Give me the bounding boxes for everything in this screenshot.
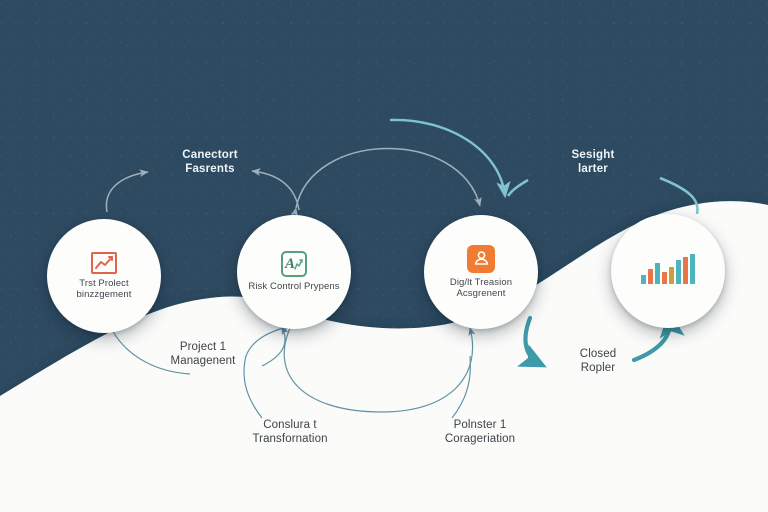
- connector-teal-into-node3: [390, 120, 505, 196]
- label-top-left: Canectort Fasrents: [145, 148, 275, 176]
- node-label: Trst Prolect binzzgement: [54, 278, 154, 301]
- bar-7: [683, 257, 688, 284]
- user-person-icon: [467, 245, 495, 273]
- infographic-canvas: Canectort Fasrents Sesight larter Projec…: [0, 0, 768, 512]
- node-label: Risk Control Prypens: [248, 281, 339, 293]
- label-bottom-right: Polnster 1 Corageriation: [400, 418, 560, 446]
- node-trust-project-management[interactable]: Trst Prolect binzzgement: [47, 219, 161, 333]
- connector-bottom-right-loop: [452, 356, 470, 418]
- label-top-right: Sesight larter: [528, 148, 658, 176]
- label-mid-left: Project 1 Managenent: [133, 340, 273, 368]
- connector-node2-node3-arc: [296, 148, 480, 208]
- connector-node2-to-label: [252, 171, 299, 210]
- node-digital-transformation-assessment[interactable]: Dig/lt Treasion Acsgrenent: [424, 215, 538, 329]
- connector-node2-node3-bottom-u: [284, 324, 472, 412]
- connector-node1-to-label: [106, 172, 148, 212]
- bar-2: [648, 269, 653, 284]
- bar-5: [669, 267, 674, 284]
- bar-chart-bars: [641, 254, 695, 284]
- trend-chart-icon: [91, 252, 117, 274]
- connector-teal-top-right-left: [508, 180, 528, 196]
- ai-letter-icon: A: [281, 251, 307, 277]
- bar-4: [662, 272, 667, 284]
- node-risk-control[interactable]: A Risk Control Prypens: [237, 215, 351, 329]
- node-label: Dig/lt Treasion Acsgrenent: [431, 277, 531, 300]
- bar-8: [690, 254, 695, 284]
- bar-chart-icon: [641, 254, 695, 284]
- node-bar-chart-metrics[interactable]: [611, 214, 725, 328]
- bar-6: [676, 260, 681, 284]
- label-mid-right: Closed Ropler: [528, 347, 668, 375]
- connector-teal-top-right-to-node4: [660, 178, 698, 214]
- bar-1: [641, 275, 646, 284]
- bar-3: [655, 263, 660, 284]
- label-bottom-left: Conslura t Transfornation: [215, 418, 365, 446]
